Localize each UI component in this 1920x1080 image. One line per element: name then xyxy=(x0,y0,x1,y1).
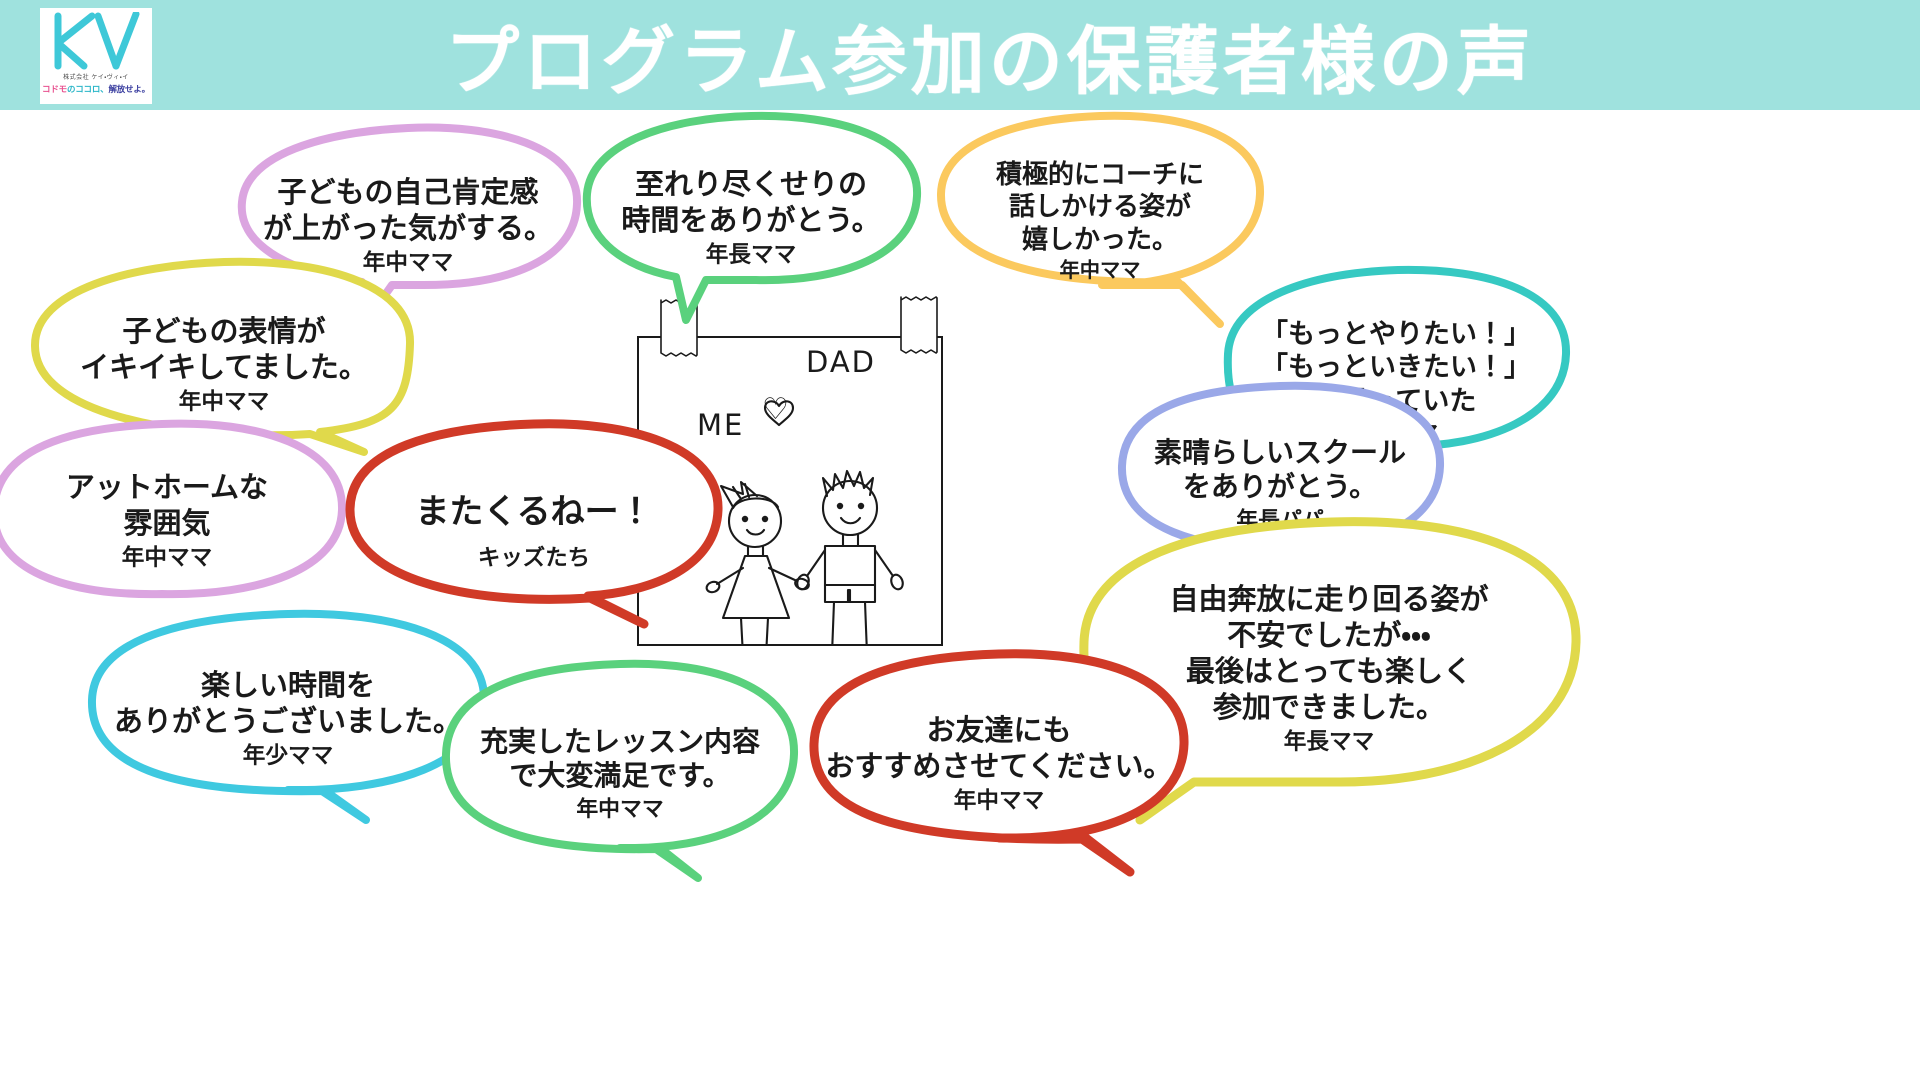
bubble-outline xyxy=(576,110,926,326)
bubble-outline xyxy=(434,658,806,890)
heart-glyph: ♡ xyxy=(762,392,789,427)
page-header: 株式会社 ケイ・ヴィ・イ コドモのココロ、解放せよ。 プログラム参加の保護者様の… xyxy=(0,0,1920,110)
bubble-outline xyxy=(0,418,352,624)
page-title: プログラム参加の保護者様の声 xyxy=(0,0,1920,110)
bubble-recommend-friends: お友達にも おすすめさせてください。 年中ママ xyxy=(800,648,1198,880)
bubble-satisfying-lesson: 充実したレッスン内容 で大変満足です。 年中ママ xyxy=(434,658,806,890)
bubble-outline xyxy=(800,648,1198,880)
bubble-at-home: アットホームな 雰囲気 年中ママ xyxy=(0,418,352,624)
bubble-attentive-time: 至れり尽くせりの 時間をありがとう。 年長ママ xyxy=(576,110,926,326)
testimonial-poster: 株式会社 ケイ・ヴィ・イ コドモのココロ、解放せよ。 プログラム参加の保護者様の… xyxy=(0,0,1920,1080)
